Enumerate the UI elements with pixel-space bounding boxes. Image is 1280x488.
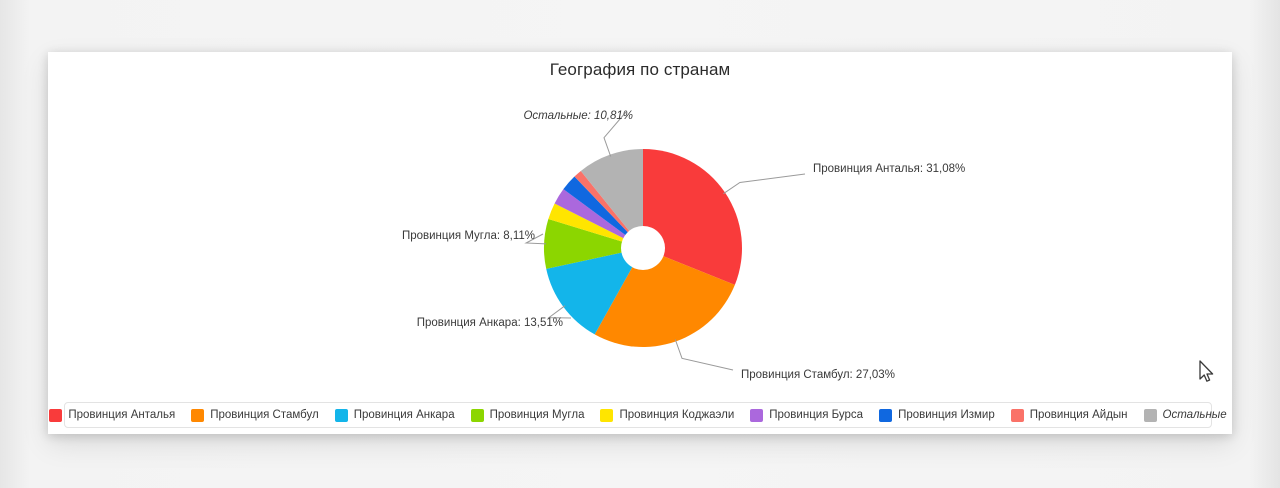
pie-slice-label: Остальные: 10,81% [523, 110, 633, 122]
legend-color-swatch [750, 409, 763, 422]
legend-item[interactable]: Провинция Мугла [471, 409, 585, 422]
legend-item[interactable]: Провинция Коджаэли [600, 409, 734, 422]
legend-item-label: Провинция Мугла [490, 409, 585, 421]
pie-slice-label: Провинция Мугла: 8,11% [402, 230, 535, 242]
donut-center-hole [621, 226, 665, 270]
legend-color-swatch [1011, 409, 1024, 422]
legend-item[interactable]: Провинция Стамбул [191, 409, 319, 422]
callout-leader-line [675, 340, 733, 371]
legend-item-label: Провинция Айдын [1030, 409, 1128, 421]
legend-color-swatch [600, 409, 613, 422]
legend-item[interactable]: Провинция Анкара [335, 409, 455, 422]
legend-item[interactable]: Остальные [1144, 409, 1227, 422]
legend-item-label: Провинция Измир [898, 409, 995, 421]
callout-leader-line [723, 174, 805, 194]
legend-item[interactable]: Провинция Анталья [49, 409, 175, 422]
legend-color-swatch [191, 409, 204, 422]
pie-slice-label: Провинция Стамбул: 27,03% [741, 369, 895, 381]
chart-card: География по странам Провинция Анталья: … [48, 52, 1232, 434]
legend-item-label: Провинция Коджаэли [619, 409, 734, 421]
legend-item-label: Остальные [1163, 409, 1227, 421]
legend-item-label: Провинция Анталья [68, 409, 175, 421]
legend-item-label: Провинция Анкара [354, 409, 455, 421]
pie-slice-label: Провинция Анталья: 31,08% [813, 163, 965, 175]
pie-chart-plot-area: Провинция Анталья: 31,08%Провинция Стамб… [48, 52, 1232, 392]
chart-legend[interactable]: Провинция АнтальяПровинция СтамбулПровин… [64, 402, 1212, 428]
legend-color-swatch [1144, 409, 1157, 422]
legend-item[interactable]: Провинция Бурса [750, 409, 863, 422]
legend-color-swatch [879, 409, 892, 422]
pie-slice-label: Провинция Анкара: 13,51% [417, 317, 563, 329]
legend-item[interactable]: Провинция Измир [879, 409, 995, 422]
legend-item-label: Провинция Бурса [769, 409, 863, 421]
legend-item[interactable]: Провинция Айдын [1011, 409, 1128, 422]
legend-color-swatch [49, 409, 62, 422]
legend-color-swatch [335, 409, 348, 422]
legend-color-swatch [471, 409, 484, 422]
pie-chart-svg: Провинция Анталья: 31,08%Провинция Стамб… [48, 52, 1232, 392]
legend-item-label: Провинция Стамбул [210, 409, 319, 421]
